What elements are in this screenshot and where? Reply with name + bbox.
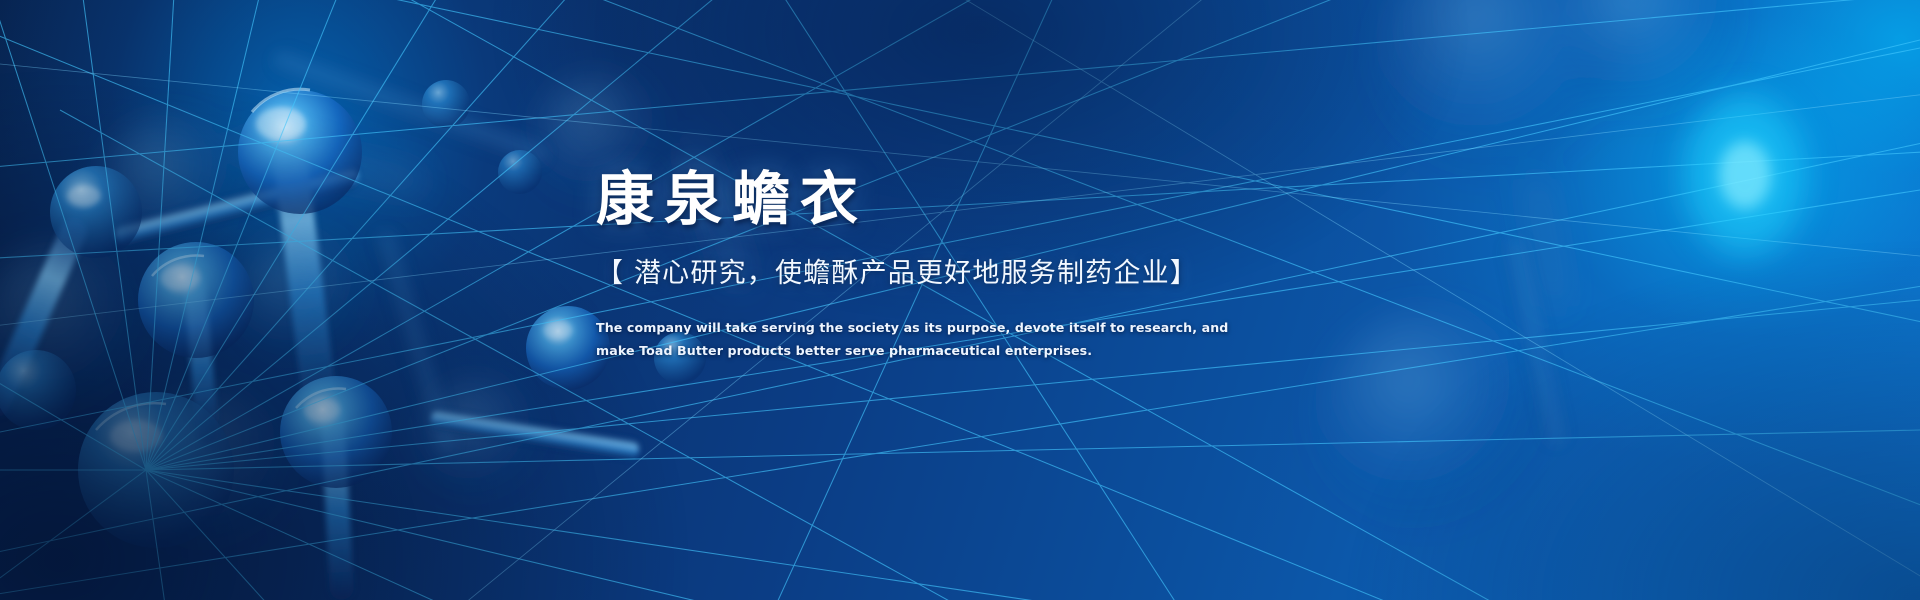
banner-main-title: 康泉蟾衣: [596, 166, 1356, 233]
cyan-glow-spot: [1685, 95, 1805, 255]
banner-text-block: 康泉蟾衣 【 潜心研究，使蟾酥产品更好地服务制药企业】 The company …: [596, 166, 1356, 362]
banner-sub-title: 【 潜心研究，使蟾酥产品更好地服务制药企业】: [596, 251, 1356, 290]
banner-english-line-1: The company will take serving the societ…: [596, 316, 1356, 339]
hero-banner: 康泉蟾衣 【 潜心研究，使蟾酥产品更好地服务制药企业】 The company …: [0, 0, 1920, 600]
banner-english-line-2: make Toad Butter products better serve p…: [596, 339, 1356, 362]
banner-english-description: The company will take serving the societ…: [596, 316, 1356, 362]
